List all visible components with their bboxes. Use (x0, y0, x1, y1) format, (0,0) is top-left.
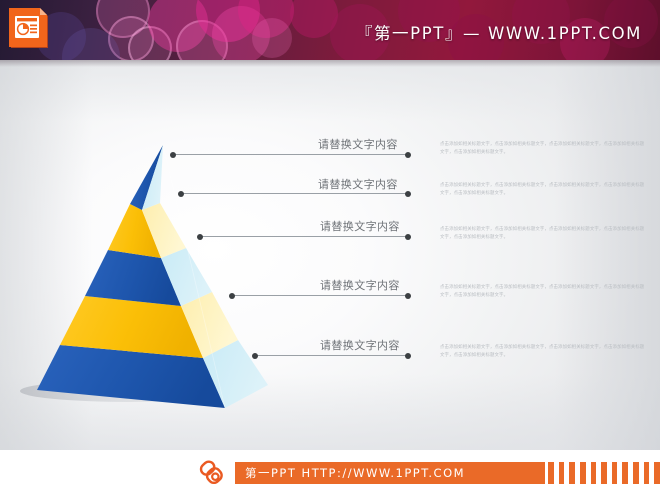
callout-title-3: 请替换文字内容 (320, 218, 400, 234)
footer-bar: 第一PPT HTTP://WWW.1PPT.COM (0, 450, 660, 495)
footer-stripe (591, 462, 597, 484)
callout-dot-right-2[interactable] (405, 191, 411, 197)
footer-stripe (654, 462, 660, 484)
footer-stripe (569, 462, 575, 484)
callout-body-5: 点击添加如相关标题文字，点击添加如相关标题文字，点击添加如相关标题文字，点击添加… (440, 344, 646, 360)
footer-stripes (548, 462, 660, 484)
callout-dot-left-1[interactable] (170, 152, 176, 158)
callout-body-1: 点击添加如相关标题文字，点击添加如相关标题文字，点击添加如相关标题文字，点击添加… (440, 141, 646, 157)
callout-dot-right-1[interactable] (405, 152, 411, 158)
footer-url-bar: 第一PPT HTTP://WWW.1PPT.COM (235, 462, 545, 484)
footer-stripe (612, 462, 618, 484)
banner-shadow (0, 60, 660, 67)
callout-line-1 (173, 154, 408, 155)
callout-dot-left-4[interactable] (229, 293, 235, 299)
callout-body-3: 点击添加如相关标题文字，点击添加如相关标题文字，点击添加如相关标题文字，点击添加… (440, 226, 646, 242)
footer-stripe (548, 462, 554, 484)
footer-stripe (601, 462, 607, 484)
callout-dot-left-5[interactable] (252, 353, 258, 359)
callout-line-5 (255, 355, 408, 356)
callout-line-2 (181, 193, 408, 194)
footer-stripe (559, 462, 565, 484)
footer-stripe (580, 462, 586, 484)
callout-title-2: 请替换文字内容 (318, 176, 398, 192)
footer-stripe (633, 462, 639, 484)
callout-line-4 (232, 295, 408, 296)
callout-dot-right-4[interactable] (405, 293, 411, 299)
callout-body-4: 点击添加如相关标题文字，点击添加如相关标题文字，点击添加如相关标题文字，点击添加… (440, 284, 646, 300)
callout-line-3 (200, 236, 408, 237)
callout-dot-left-3[interactable] (197, 234, 203, 240)
powerpoint-icon (7, 7, 51, 53)
slide-canvas: 『第一PPT』— WWW.1PPT.COM (0, 0, 660, 495)
callout-dot-right-3[interactable] (405, 234, 411, 240)
pen-icon (196, 458, 228, 488)
footer-stripe (644, 462, 650, 484)
callout-title-1: 请替换文字内容 (318, 136, 398, 152)
callout-dot-left-2[interactable] (178, 191, 184, 197)
banner-title: 『第一PPT』— WWW.1PPT.COM (356, 20, 642, 44)
callout-dot-right-5[interactable] (405, 353, 411, 359)
footer-stripe (622, 462, 628, 484)
footer-url-text: 第一PPT HTTP://WWW.1PPT.COM (235, 465, 465, 481)
callout-title-5: 请替换文字内容 (320, 337, 400, 353)
callout-layer: 请替换文字内容 点击添加如相关标题文字，点击添加如相关标题文字，点击添加如相关标… (0, 0, 660, 495)
callout-title-4: 请替换文字内容 (320, 277, 400, 293)
callout-body-2: 点击添加如相关标题文字，点击添加如相关标题文字，点击添加如相关标题文字，点击添加… (440, 182, 646, 198)
